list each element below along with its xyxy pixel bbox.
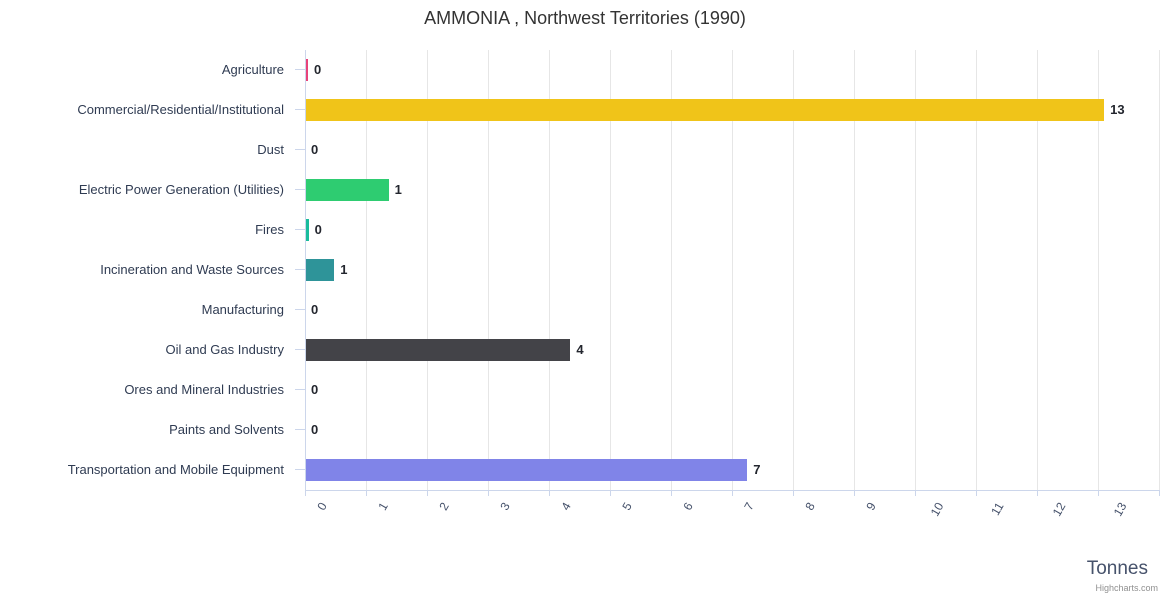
category-label: Paints and Solvents — [0, 410, 284, 450]
chart-title: AMMONIA , Northwest Territories (1990) — [0, 8, 1170, 29]
y-axis-tick — [295, 349, 305, 350]
bar-row[interactable]: Electric Power Generation (Utilities)1 — [0, 170, 1170, 210]
bar-row[interactable]: Ores and Mineral Industries0 — [0, 370, 1170, 410]
bar[interactable] — [305, 99, 1104, 121]
category-label: Dust — [0, 130, 284, 170]
y-axis-tick — [295, 429, 305, 430]
x-axis-tick-label: 6 — [680, 500, 695, 513]
x-axis-tick-label: 4 — [558, 500, 573, 513]
bar-data-label: 0 — [314, 59, 321, 81]
category-label: Agriculture — [0, 50, 284, 90]
x-axis-tick — [305, 490, 306, 496]
bar-data-label: 1 — [395, 179, 402, 201]
x-axis-tick — [1037, 490, 1038, 496]
x-axis-tick — [1159, 490, 1160, 496]
x-axis-tick-label: 11 — [988, 500, 1006, 518]
x-axis-tick — [732, 490, 733, 496]
x-axis-tick — [976, 490, 977, 496]
category-label: Commercial/Residential/Institutional — [0, 90, 284, 130]
y-axis-tick — [295, 389, 305, 390]
y-axis-line — [305, 50, 306, 490]
x-axis-tick — [427, 490, 428, 496]
x-axis-tick-label: 3 — [497, 500, 512, 513]
x-axis-tick — [671, 490, 672, 496]
category-label: Fires — [0, 210, 284, 250]
bar[interactable] — [305, 259, 334, 281]
credits-label[interactable]: Highcharts.com — [1095, 583, 1158, 593]
bar-row[interactable]: Paints and Solvents0 — [0, 410, 1170, 450]
bar-data-label: 0 — [311, 299, 318, 321]
x-axis-tick-label: 0 — [314, 500, 329, 513]
bar-row[interactable]: Dust0 — [0, 130, 1170, 170]
bar-row[interactable]: Manufacturing0 — [0, 290, 1170, 330]
bar-data-label: 4 — [576, 339, 583, 361]
bar-data-label: 0 — [311, 139, 318, 161]
x-axis-tick — [793, 490, 794, 496]
bar-data-label: 7 — [753, 459, 760, 481]
category-label: Manufacturing — [0, 290, 284, 330]
bar-data-label: 0 — [311, 379, 318, 401]
y-axis-tick — [295, 469, 305, 470]
category-label: Electric Power Generation (Utilities) — [0, 170, 284, 210]
x-axis-tick-label: 2 — [436, 500, 451, 513]
y-axis-tick — [295, 149, 305, 150]
bar-row[interactable]: Transportation and Mobile Equipment7 — [0, 450, 1170, 490]
bar-data-label: 0 — [315, 219, 322, 241]
x-axis-tick-label: 7 — [741, 500, 756, 513]
y-axis-tick — [295, 309, 305, 310]
bar-row[interactable]: Commercial/Residential/Institutional13 — [0, 90, 1170, 130]
bar-row[interactable]: Fires0 — [0, 210, 1170, 250]
y-axis-tick — [295, 269, 305, 270]
y-axis-tick — [295, 109, 305, 110]
bar[interactable] — [305, 459, 747, 481]
x-axis-tick — [610, 490, 611, 496]
bar[interactable] — [305, 179, 389, 201]
x-axis-tick — [549, 490, 550, 496]
x-axis-tick-label: 10 — [928, 500, 947, 519]
x-axis-tick-label: 13 — [1111, 500, 1130, 519]
x-axis-tick — [488, 490, 489, 496]
y-axis-tick — [295, 69, 305, 70]
x-axis-tick-label: 1 — [375, 500, 390, 513]
x-axis-tick — [915, 490, 916, 496]
category-label: Ores and Mineral Industries — [0, 370, 284, 410]
x-axis-tick-label: 12 — [1050, 500, 1069, 519]
bar-row[interactable]: Agriculture0 — [0, 50, 1170, 90]
x-axis-tick — [366, 490, 367, 496]
category-label: Oil and Gas Industry — [0, 330, 284, 370]
bar-data-label: 13 — [1110, 99, 1124, 121]
bar-data-label: 1 — [340, 259, 347, 281]
bar[interactable] — [305, 339, 570, 361]
x-axis-tick — [854, 490, 855, 496]
y-axis-tick — [295, 229, 305, 230]
x-axis-tick-label: 8 — [802, 500, 817, 513]
category-label: Incineration and Waste Sources — [0, 250, 284, 290]
x-axis-tick — [1098, 490, 1099, 496]
y-axis-tick — [295, 189, 305, 190]
x-axis-tick-label: 5 — [619, 500, 634, 513]
bar-data-label: 0 — [311, 419, 318, 441]
bar-row[interactable]: Oil and Gas Industry4 — [0, 330, 1170, 370]
highcharts-bar-chart: AMMONIA , Northwest Territories (1990) A… — [0, 0, 1170, 600]
bar-row[interactable]: Incineration and Waste Sources1 — [0, 250, 1170, 290]
x-axis-tick-label: 9 — [863, 500, 878, 513]
category-label: Transportation and Mobile Equipment — [0, 450, 284, 490]
x-axis-title: Tonnes — [1087, 558, 1148, 580]
